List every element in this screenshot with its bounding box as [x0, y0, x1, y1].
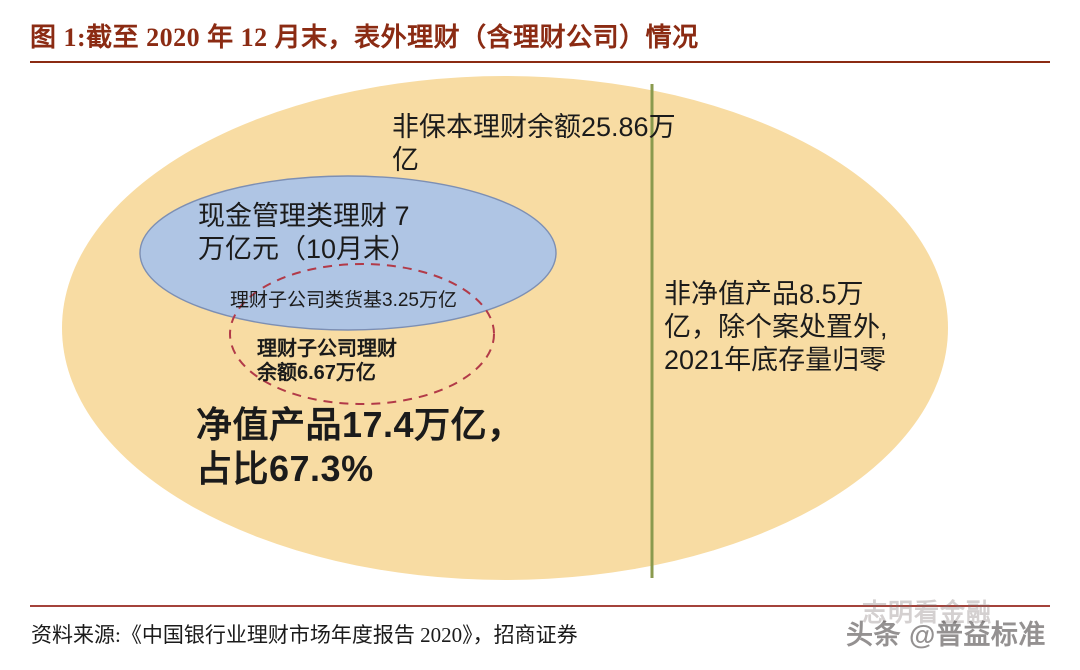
- label-cash-management: 现金管理类理财 7 万亿元（10月末）: [198, 200, 550, 266]
- title-bar: 图 1:截至 2020 年 12 月末，表外理财（含理财公司）情况: [0, 0, 1080, 66]
- label-non-nav-products: 非净值产品8.5万 亿，除个案处置外, 2021年底存量归零: [664, 278, 954, 377]
- label-nav-products: 净值产品17.4万亿， 占比67.3%: [196, 403, 626, 491]
- label-subsidiary-money-market-fund: 理财子公司类货基3.25万亿: [230, 289, 530, 312]
- page-title: 图 1:截至 2020 年 12 月末，表外理财（含理财公司）情况: [30, 17, 699, 54]
- label-subsidiary-balance: 理财子公司理财 余额6.67万亿: [257, 337, 517, 386]
- footer: 资料来源:《中国银行业理财市场年度报告 2020》，招商证券: [0, 596, 1080, 670]
- venn-diagram: 非保本理财余额25.86万 亿 现金管理类理财 7 万亿元（10月末） 理财子公…: [0, 66, 1080, 596]
- footer-divider: [30, 605, 1050, 607]
- title-divider: [30, 61, 1050, 63]
- source-note: 资料来源:《中国银行业理财市场年度报告 2020》，招商证券: [31, 619, 578, 649]
- label-non-guaranteed-balance: 非保本理财余额25.86万 亿: [392, 111, 742, 177]
